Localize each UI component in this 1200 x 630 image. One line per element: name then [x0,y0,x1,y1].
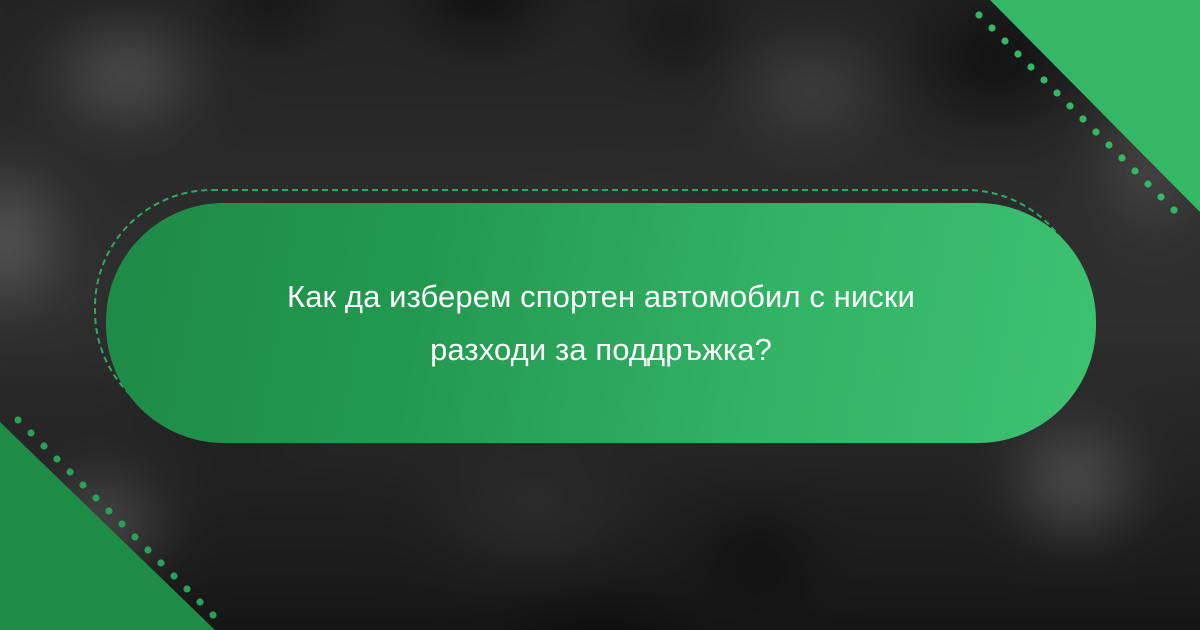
headline-card: Как да изберем спортен автомобил с ниски… [106,203,1096,443]
headline-card-wrapper: Как да изберем спортен автомобил с ниски… [106,203,1096,443]
page-title: Как да изберем спортен автомобил с ниски… [287,270,915,377]
share-card-canvas: Как да изберем спортен автомобил с ниски… [0,0,1200,630]
